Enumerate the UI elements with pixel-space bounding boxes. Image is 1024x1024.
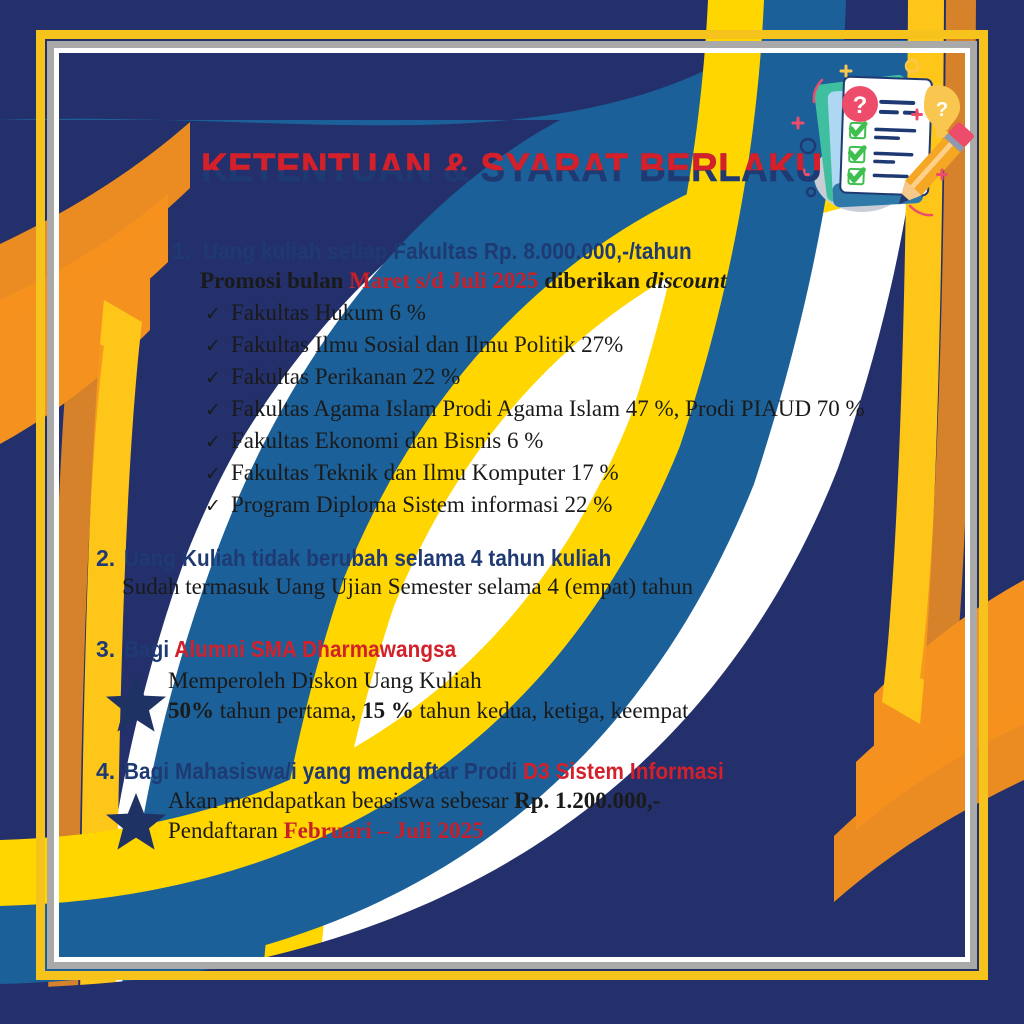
item-4-line1-before: Akan mendapatkan beasiswa sebesar <box>168 788 514 813</box>
check-icon: ✓ <box>205 303 231 325</box>
faculty-label: Fakultas Ilmu Sosial dan Ilmu Politik 27… <box>231 332 623 358</box>
item-3-mid-2: tahun kedua, ketiga, keempat <box>414 698 689 723</box>
list-item: ✓ Fakultas Perikanan 22 % <box>205 364 865 396</box>
poster-content: ? ? <box>0 0 1024 1024</box>
check-icon: ✓ <box>205 495 231 517</box>
item-4-heading-red: D3 Sistem Informasi <box>523 758 724 784</box>
star-icon <box>105 791 167 853</box>
item-1-sub-italic: discount <box>646 268 727 293</box>
check-icon: ✓ <box>205 367 231 389</box>
item-3-number: 3. <box>96 636 115 663</box>
faculty-label: Fakultas Teknik dan Ilmu Komputer 17 % <box>231 460 619 486</box>
page-title: KETENTUAN & SYARAT BERLAKU KETENTUAN & S… <box>201 146 822 191</box>
svg-text:?: ? <box>853 92 868 119</box>
check-icon: ✓ <box>205 335 231 357</box>
item-1-sub-middle: diberikan <box>538 268 645 293</box>
item-1-heading: Uang kuliah setiap Fakultas Rp. 8.000.00… <box>203 238 692 265</box>
item-1-subtext: Promosi bulan Maret s/d Juli 2025 diberi… <box>200 268 726 294</box>
faculty-label: Fakultas Ekonomi dan Bisnis 6 % <box>231 428 543 454</box>
list-item: ✓ Fakultas Ilmu Sosial dan Ilmu Politik … <box>205 332 865 364</box>
item-1-sub-highlight: Maret s/d Juli 2025 <box>349 268 538 293</box>
item-3-mid-1: tahun pertama, <box>214 698 362 723</box>
check-icon: ✓ <box>205 399 231 421</box>
item-4-line2-before: Pendaftaran <box>168 818 284 843</box>
item-4-line-2: Pendaftaran Februari – Juli 2025 <box>168 818 484 844</box>
item-4-heading-blue: Bagi Mahasiswa/i yang mendaftar Prodi <box>124 758 523 784</box>
page-title-base: KETENTUAN & SYARAT BERLAKU <box>201 146 822 190</box>
item-4-number: 4. <box>96 758 115 785</box>
list-item-2: 2. Uang Kuliah tidak berubah selama 4 ta… <box>96 545 666 572</box>
faculty-label: Program Diploma Sistem informasi 22 % <box>231 492 612 518</box>
item-4-line2-red: Februari – Juli 2025 <box>284 818 484 843</box>
faculty-label: Fakultas Hukum 6 % <box>231 300 426 326</box>
star-icon <box>105 673 167 735</box>
question-badge: ? <box>842 86 878 122</box>
item-1-number: 1. <box>172 238 191 265</box>
poster-title-wrap: KETENTUAN & SYARAT BERLAKU KETENTUAN & S… <box>0 146 1024 191</box>
item-1-sub-before: Promosi bulan <box>200 268 349 293</box>
item-3-heading: Bagi Alumni SMA Dharmawangsa <box>124 636 456 663</box>
list-item-4: 4. Bagi Mahasiswa/i yang mendaftar Prodi… <box>96 758 791 785</box>
item-4-heading: Bagi Mahasiswa/i yang mendaftar Prodi D3… <box>124 758 724 785</box>
check-icon: ✓ <box>205 431 231 453</box>
list-item: ✓ Fakultas Ekonomi dan Bisnis 6 % <box>205 428 865 460</box>
list-item: ✓ Fakultas Hukum 6 % <box>205 300 865 332</box>
poster-canvas: ? ? <box>0 0 1024 1024</box>
item-3-bold-1: 50% <box>168 698 214 723</box>
item-2-subtext: Sudah termasuk Uang Ujian Semester selam… <box>122 574 693 600</box>
list-item-1: 1. Uang kuliah setiap Fakultas Rp. 8.000… <box>172 238 746 265</box>
list-item: ✓ Program Diploma Sistem informasi 22 % <box>205 492 865 524</box>
item-2-heading: Uang Kuliah tidak berubah selama 4 tahun… <box>124 545 611 572</box>
item-3-heading-red: Alumni SMA Dharmawangsa <box>174 636 456 662</box>
item-4-line-1: Akan mendapatkan beasiswa sebesar Rp. 1.… <box>168 788 660 814</box>
item-3-bold-2: 15 % <box>362 698 414 723</box>
faculty-discount-list: ✓ Fakultas Hukum 6 % ✓ Fakultas Ilmu Sos… <box>205 300 865 524</box>
item-3-heading-blue: Bagi <box>124 636 174 662</box>
list-item-3: 3. Bagi Alumni SMA Dharmawangsa <box>96 636 493 663</box>
svg-text:?: ? <box>936 99 948 121</box>
item-4-line1-bold: Rp. 1.200.000,- <box>514 788 660 813</box>
faculty-label: Fakultas Perikanan 22 % <box>231 364 460 390</box>
list-item: ✓ Fakultas Teknik dan Ilmu Komputer 17 % <box>205 460 865 492</box>
item-3-line-1: Memperoleh Diskon Uang Kuliah <box>168 668 482 694</box>
faculty-label: Fakultas Agama Islam Prodi Agama Islam 4… <box>231 396 865 422</box>
check-icon: ✓ <box>205 463 231 485</box>
list-item: ✓ Fakultas Agama Islam Prodi Agama Islam… <box>205 396 865 428</box>
item-3-line-2: 50% tahun pertama, 15 % tahun kedua, ket… <box>168 698 689 724</box>
item-2-number: 2. <box>96 545 115 572</box>
